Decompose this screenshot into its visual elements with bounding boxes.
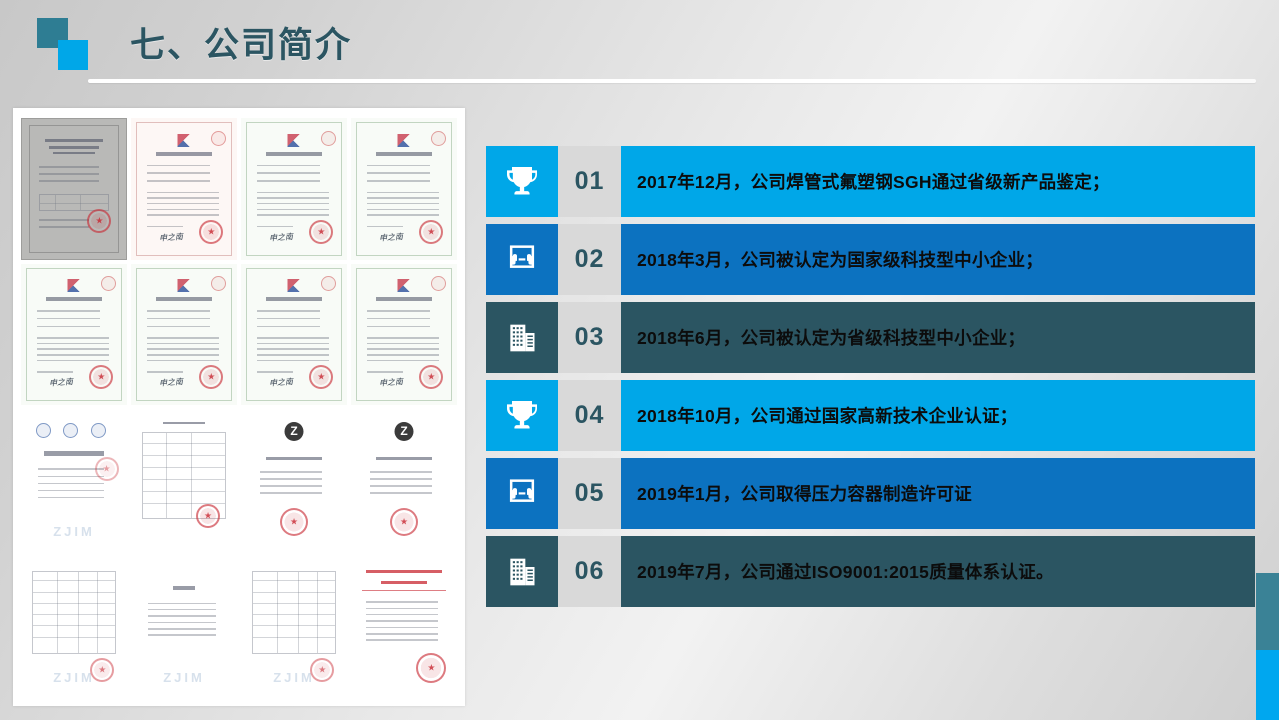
certificate-thumbnail: 申之南 (131, 118, 237, 260)
certificate-thumbnail (21, 118, 127, 260)
page-title: 七、公司简介 (130, 17, 352, 68)
certificates-panel: 申之南申之南申之南申之南申之南申之南申之南ZJIMZZZJIMZJIMZJIM (13, 108, 465, 706)
building-icon (486, 536, 558, 607)
certificate-thumbnail: 申之南 (21, 264, 127, 406)
achievement-number: 04 (558, 380, 621, 451)
tablet-hands-icon (486, 224, 558, 295)
certificate-thumbnail: ZJIM (21, 409, 127, 551)
edge-accent-teal (1256, 573, 1279, 650)
header-decor-square-light (58, 40, 88, 70)
achievement-number: 05 (558, 458, 621, 529)
certificate-thumbnail: Z (241, 409, 347, 551)
building-icon (486, 302, 558, 373)
tablet-hands-icon (486, 458, 558, 529)
achievement-row[interactable]: 052019年1月，公司取得压力容器制造许可证 (486, 458, 1255, 529)
achievement-text: 2019年1月，公司取得压力容器制造许可证 (621, 458, 1255, 529)
trophy-icon (486, 380, 558, 451)
achievement-row[interactable]: 062019年7月，公司通过ISO9001:2015质量体系认证。 (486, 536, 1255, 607)
certificate-thumbnail: ZJIM (131, 555, 237, 697)
achievement-text: 2018年6月，公司被认定为省级科技型中小企业； (621, 302, 1255, 373)
certificate-thumbnail: ZJIM (21, 555, 127, 697)
achievement-text: 2017年12月，公司焊管式氟塑钢SGH通过省级新产品鉴定； (621, 146, 1255, 217)
trophy-icon (486, 146, 558, 217)
achievement-text: 2018年10月，公司通过国家高新技术企业认证； (621, 380, 1255, 451)
certificate-thumbnail (131, 409, 237, 551)
achievement-number: 02 (558, 224, 621, 295)
header-divider (88, 79, 1256, 83)
achievements-list: 012017年12月，公司焊管式氟塑钢SGH通过省级新产品鉴定；022018年3… (486, 146, 1255, 607)
certificate-thumbnail (351, 555, 457, 697)
certificate-thumbnail: 申之南 (241, 264, 347, 406)
achievement-row[interactable]: 032018年6月，公司被认定为省级科技型中小企业； (486, 302, 1255, 373)
certificate-thumbnail: 申之南 (351, 264, 457, 406)
achievement-number: 03 (558, 302, 621, 373)
edge-accent-blue (1256, 650, 1279, 720)
achievement-row[interactable]: 042018年10月，公司通过国家高新技术企业认证； (486, 380, 1255, 451)
certificate-thumbnail: ZJIM (241, 555, 347, 697)
achievement-number: 06 (558, 536, 621, 607)
certificate-thumbnail: 申之南 (351, 118, 457, 260)
certificate-thumbnail: 申之南 (131, 264, 237, 406)
achievement-number: 01 (558, 146, 621, 217)
certificate-thumbnail: 申之南 (241, 118, 347, 260)
certificate-thumbnail: Z (351, 409, 457, 551)
achievement-text: 2018年3月，公司被认定为国家级科技型中小企业； (621, 224, 1255, 295)
achievement-row[interactable]: 022018年3月，公司被认定为国家级科技型中小企业； (486, 224, 1255, 295)
achievement-text: 2019年7月，公司通过ISO9001:2015质量体系认证。 (621, 536, 1255, 607)
achievement-row[interactable]: 012017年12月，公司焊管式氟塑钢SGH通过省级新产品鉴定； (486, 146, 1255, 217)
